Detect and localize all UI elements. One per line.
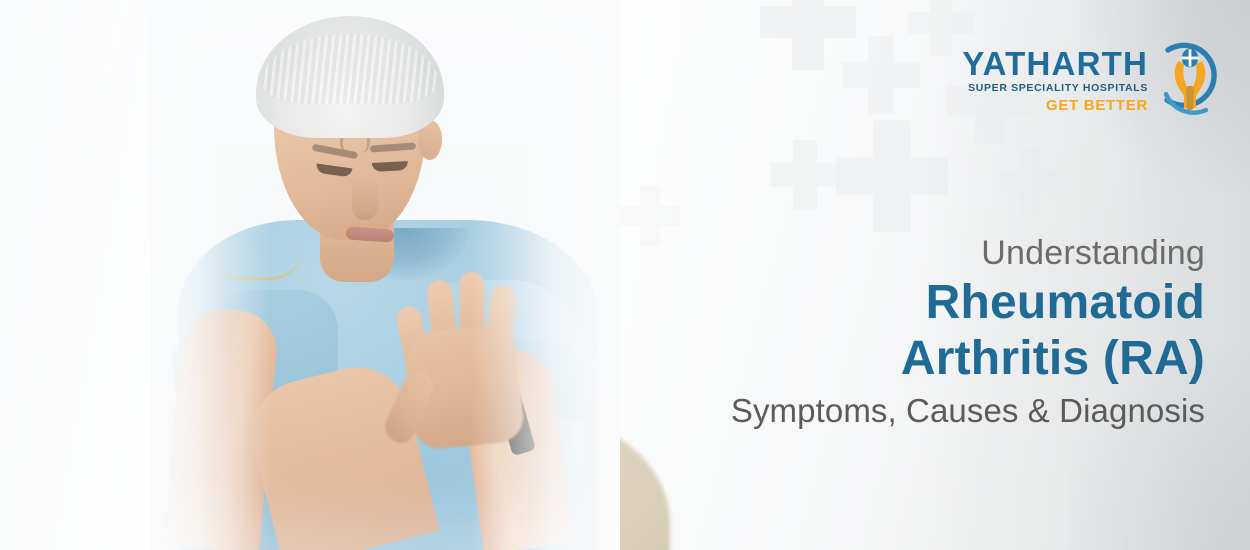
logo-brand-name: YATHARTH xyxy=(962,47,1148,80)
headline-subtitle: Symptoms, Causes & Diagnosis xyxy=(731,394,1205,427)
eye-left xyxy=(316,164,353,178)
logo-tagline: GET BETTER xyxy=(962,98,1148,113)
patient-photo xyxy=(150,0,620,550)
yatharth-hands-circle-logo-icon xyxy=(1154,34,1226,126)
yatharth-logo[interactable]: YATHARTH SUPER SPECIALITY HOSPITALS GET … xyxy=(962,34,1226,126)
logo-wordmark: YATHARTH SUPER SPECIALITY HOSPITALS GET … xyxy=(962,47,1148,113)
photo-left-fade xyxy=(150,0,270,550)
nose xyxy=(352,176,378,220)
eye-right xyxy=(372,161,408,172)
medical-cross-watermark xyxy=(770,140,840,210)
headline-title-line1: Rheumatoid xyxy=(731,279,1205,327)
woman-head xyxy=(254,16,446,248)
headline-kicker: Understanding xyxy=(731,236,1205,270)
headline-block: Understanding Rheumatoid Arthritis (RA) … xyxy=(731,236,1205,427)
eyebrow-right xyxy=(370,142,416,152)
photo-right-fade xyxy=(470,0,620,550)
logo-subtitle: SUPER SPECIALITY HOSPITALS xyxy=(962,83,1148,94)
short-white-hair xyxy=(256,16,444,138)
ra-article-banner: YATHARTH SUPER SPECIALITY HOSPITALS GET … xyxy=(0,0,1250,550)
headline-title-line2: Arthritis (RA) xyxy=(731,335,1205,383)
